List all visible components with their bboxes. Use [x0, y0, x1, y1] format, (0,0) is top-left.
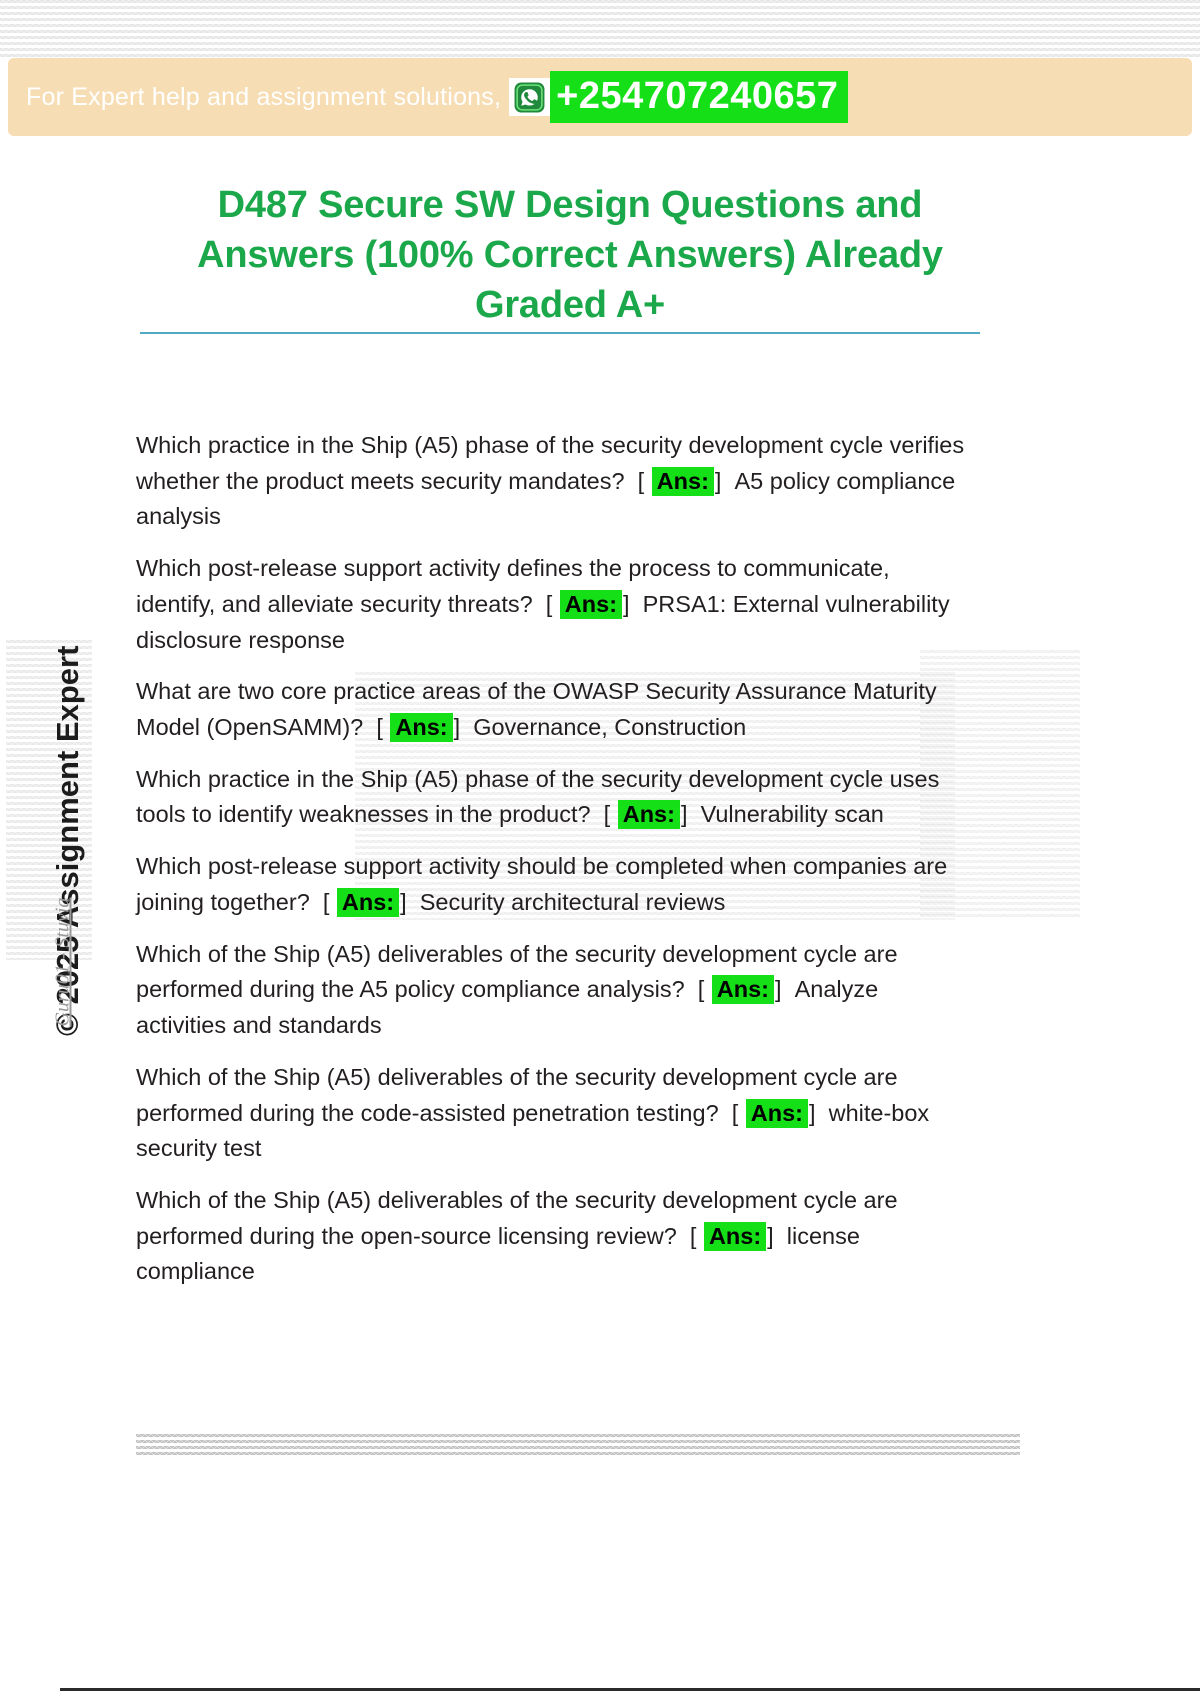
answer-label-highlight: Ans: — [712, 975, 774, 1004]
qa-item: Which of the Ship (A5) deliverables of t… — [136, 937, 966, 1044]
bottom-texture-band — [136, 1434, 1020, 1456]
qa-item: What are two core practice areas of the … — [136, 674, 966, 745]
bracket-close: ] — [454, 714, 461, 740]
sidebar-watermark: © 2025 Assignment Expert Guru01 - Stuvia — [6, 540, 102, 1060]
bracket-open: [ — [638, 468, 645, 494]
answer-text: Vulnerability scan — [701, 801, 884, 827]
qa-item: Which of the Ship (A5) deliverables of t… — [136, 1183, 966, 1290]
source-attribution: Guru01 - Stuvia — [52, 697, 75, 1027]
answer-label-highlight: Ans: — [704, 1222, 766, 1251]
answer-label-highlight: Ans: — [390, 713, 452, 742]
bracket-close: ] — [715, 468, 722, 494]
qa-item: Which of the Ship (A5) deliverables of t… — [136, 1060, 966, 1167]
question-text: Which of the Ship (A5) deliverables of t… — [136, 941, 898, 1003]
bracket-close: ] — [809, 1100, 816, 1126]
bracket-close: ] — [767, 1223, 774, 1249]
bracket-open: [ — [732, 1100, 739, 1126]
page-title: D487 Secure SW Design Questions and Answ… — [140, 180, 1000, 330]
bracket-close: ] — [623, 591, 630, 617]
qa-item: Which practice in the Ship (A5) phase of… — [136, 428, 966, 535]
answer-text: Security architectural reviews — [420, 889, 726, 915]
answer-label-highlight: Ans: — [560, 590, 622, 619]
bracket-close: ] — [400, 889, 407, 915]
bracket-open: [ — [323, 889, 330, 915]
promo-phone-number[interactable]: +254707240657 — [550, 71, 848, 123]
qa-item: Which post-release support activity shou… — [136, 849, 966, 920]
answer-label-highlight: Ans: — [652, 467, 714, 496]
page-bottom-rule — [60, 1688, 1200, 1691]
whatsapp-icon[interactable] — [509, 78, 550, 116]
qa-item: Which post-release support activity defi… — [136, 551, 966, 658]
bracket-close: ] — [775, 976, 782, 1002]
answer-label-highlight: Ans: — [618, 800, 680, 829]
title-divider — [140, 332, 980, 334]
answer-text: Governance, Construction — [473, 714, 746, 740]
bracket-open: [ — [376, 714, 383, 740]
bracket-open: [ — [546, 591, 553, 617]
qa-item: Which practice in the Ship (A5) phase of… — [136, 762, 966, 833]
bracket-close: ] — [681, 801, 688, 827]
document-page: For Expert help and assignment solutions… — [0, 0, 1200, 1700]
answer-label-highlight: Ans: — [746, 1099, 808, 1128]
qa-list: Which practice in the Ship (A5) phase of… — [136, 428, 966, 1306]
promo-banner: For Expert help and assignment solutions… — [8, 58, 1192, 136]
promo-text: For Expert help and assignment solutions… — [26, 83, 501, 112]
bracket-open: [ — [604, 801, 611, 827]
top-texture-band — [0, 0, 1200, 58]
answer-label-highlight: Ans: — [337, 888, 399, 917]
question-text: Which of the Ship (A5) deliverables of t… — [136, 1187, 898, 1249]
bracket-open: [ — [698, 976, 705, 1002]
bracket-open: [ — [690, 1223, 697, 1249]
